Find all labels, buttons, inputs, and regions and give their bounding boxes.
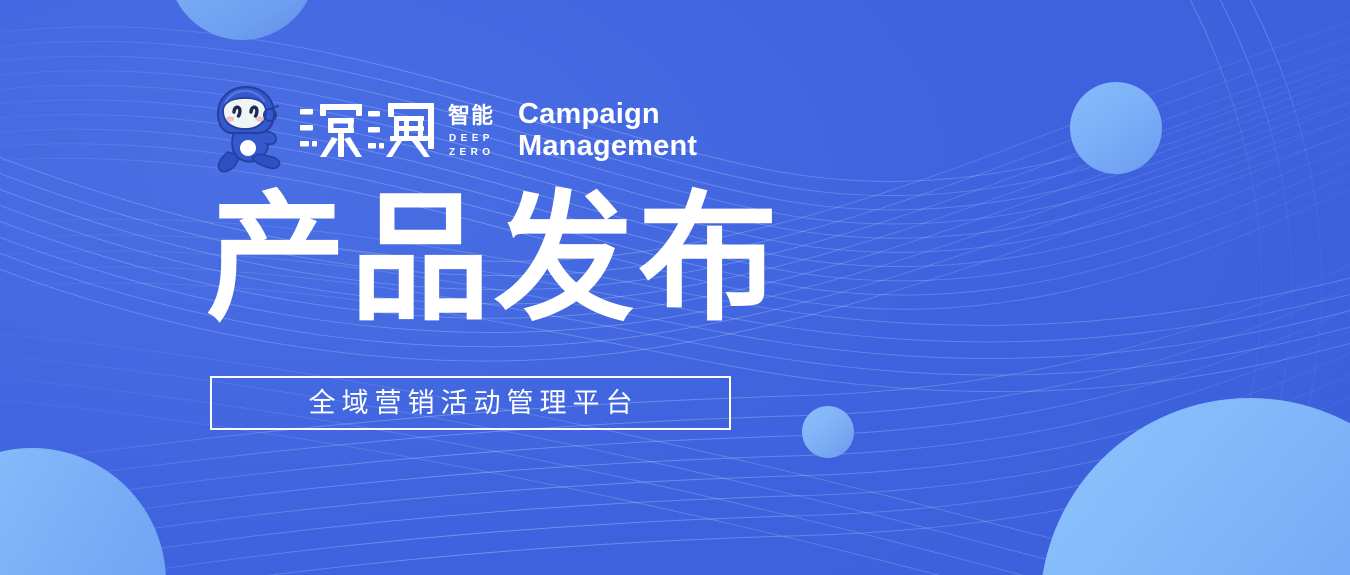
subtitle-box: 全域营销活动管理平台	[210, 376, 731, 430]
product-launch-banner: 智能 DEEP ZERO Campaign Management 产品发布 全域…	[0, 0, 1350, 575]
decor-circle-top-right	[1070, 82, 1162, 174]
zhineng-deepzero-sublogo: 智能 DEEP ZERO	[448, 99, 510, 161]
subtitle-text: 全域营销活动管理平台	[303, 390, 639, 417]
robot-mascot-icon	[208, 84, 294, 176]
page-title: 产品发布	[206, 190, 782, 330]
svg-text:ZERO: ZERO	[449, 147, 494, 158]
product-name-en-line1: Campaign	[518, 98, 697, 130]
decor-circle-small-middle	[802, 406, 854, 458]
shenyan-logo-icon	[298, 99, 446, 161]
svg-text:智能: 智能	[448, 103, 494, 129]
product-name-en-line2: Management	[518, 130, 697, 162]
product-name-en: Campaign Management	[518, 98, 697, 163]
brand-row: 智能 DEEP ZERO Campaign Management	[208, 84, 697, 176]
svg-text:DEEP: DEEP	[449, 133, 494, 144]
